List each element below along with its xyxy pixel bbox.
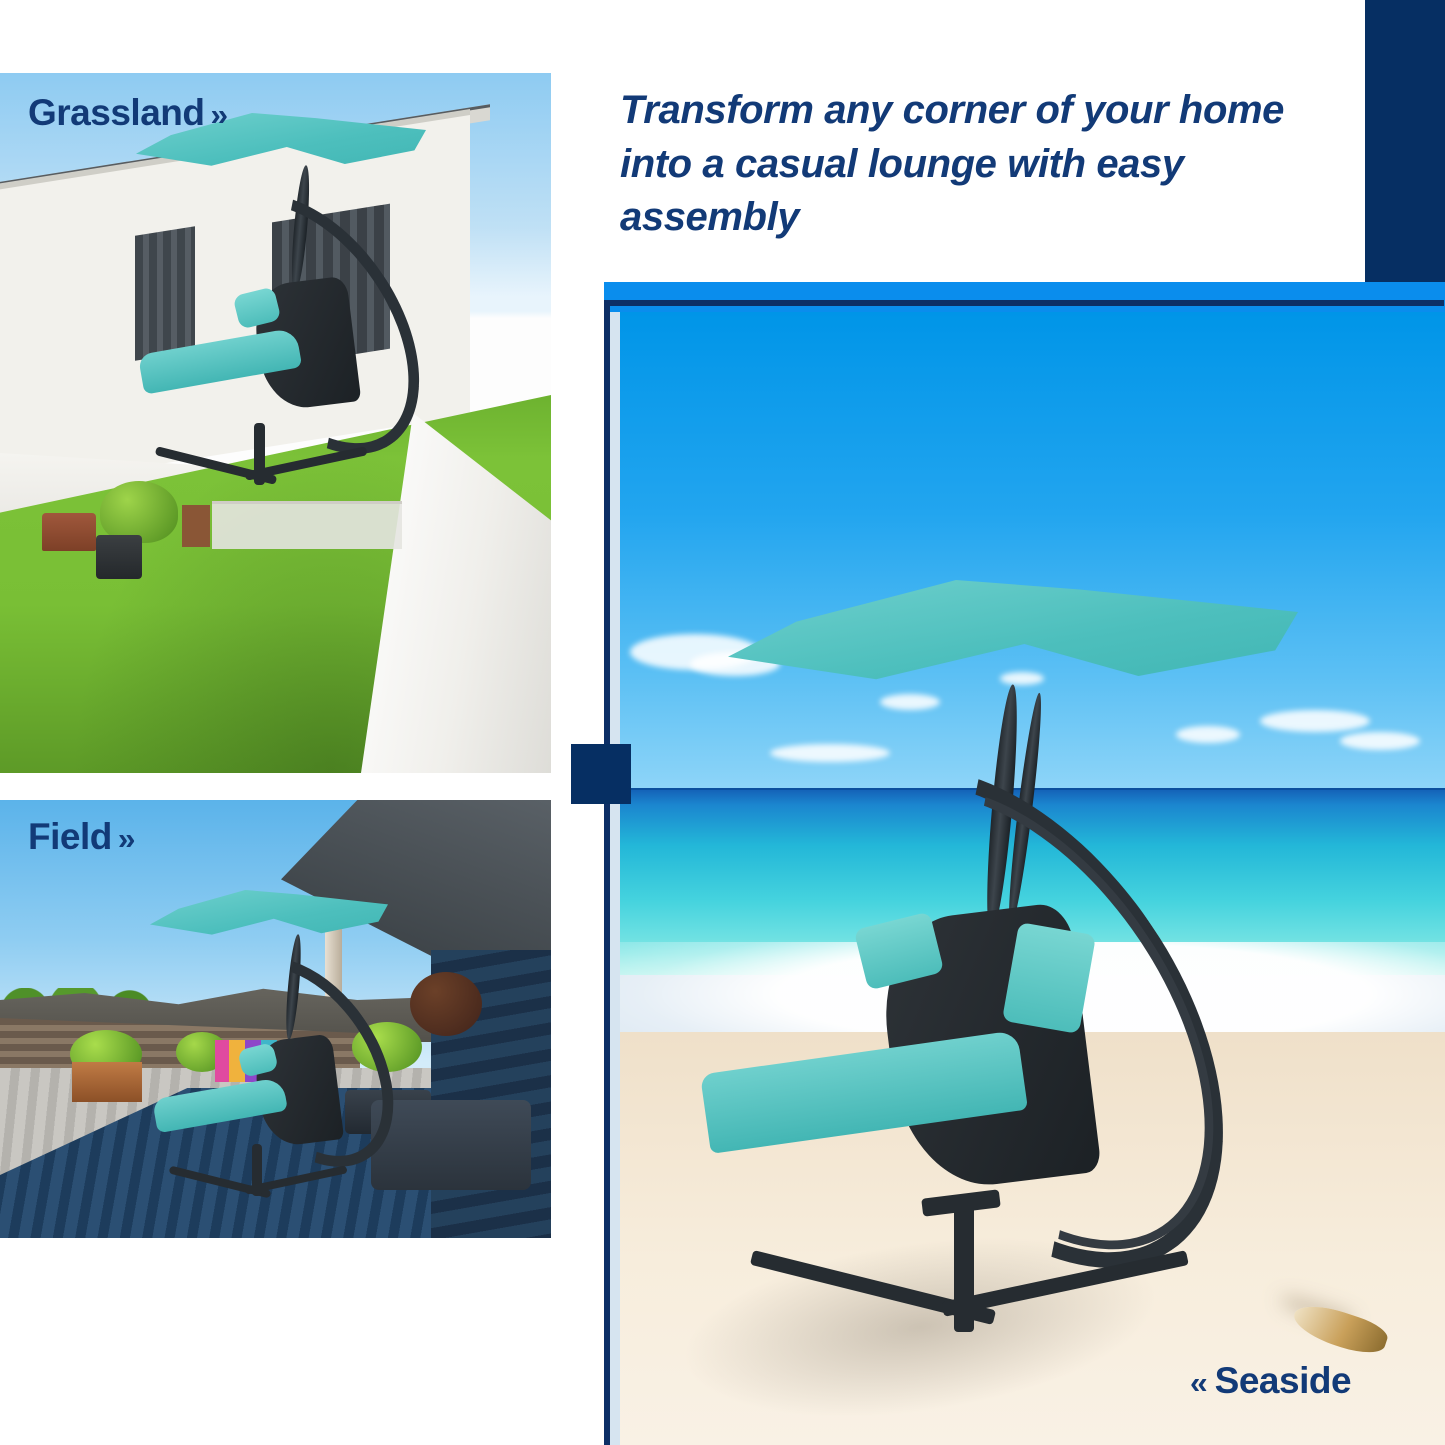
chevron-right-icon: ››: [210, 97, 225, 132]
field-label-text: Field: [28, 816, 112, 857]
hanging-chaise-lounge-seaside: [700, 580, 1320, 1400]
seaside-label[interactable]: ‹‹Seaside: [1190, 1360, 1351, 1402]
marketing-banner: Transform any corner of your home into a…: [0, 0, 1445, 1445]
seaside-scene-image[interactable]: [620, 312, 1445, 1445]
hanging-chaise-lounge-grassland: [118, 93, 448, 533]
chevron-left-icon: ‹‹: [1190, 1365, 1205, 1400]
grassland-label[interactable]: Grassland››: [28, 92, 225, 134]
accent-blue-bar-cap: [1365, 282, 1445, 312]
frame-corner-square: [571, 744, 631, 804]
frame-top-border: [604, 300, 1444, 306]
chair-base-post: [254, 423, 265, 485]
grassland-label-text: Grassland: [28, 92, 204, 133]
headline-text: Transform any corner of your home into a…: [620, 84, 1320, 245]
chair-canopy: [150, 890, 388, 962]
field-scene-image[interactable]: [0, 800, 551, 1238]
planter-pot: [96, 535, 142, 579]
seaside-label-text: Seaside: [1215, 1360, 1351, 1401]
chair-base-post: [252, 1144, 262, 1196]
chair-base-post: [954, 1204, 974, 1332]
shrub-bronze: [410, 972, 482, 1036]
patio-chairs: [42, 513, 96, 551]
frame-left-border: [604, 300, 610, 1445]
chevron-right-icon: ››: [118, 821, 133, 856]
field-label[interactable]: Field››: [28, 816, 133, 858]
grassland-scene-image[interactable]: [0, 73, 551, 773]
cloud: [1340, 732, 1420, 750]
planter-terracotta: [72, 1062, 142, 1102]
navy-accent-block: [1365, 0, 1445, 282]
hanging-chaise-lounge-field: [140, 890, 420, 1230]
accent-blue-bar: [604, 282, 1445, 312]
